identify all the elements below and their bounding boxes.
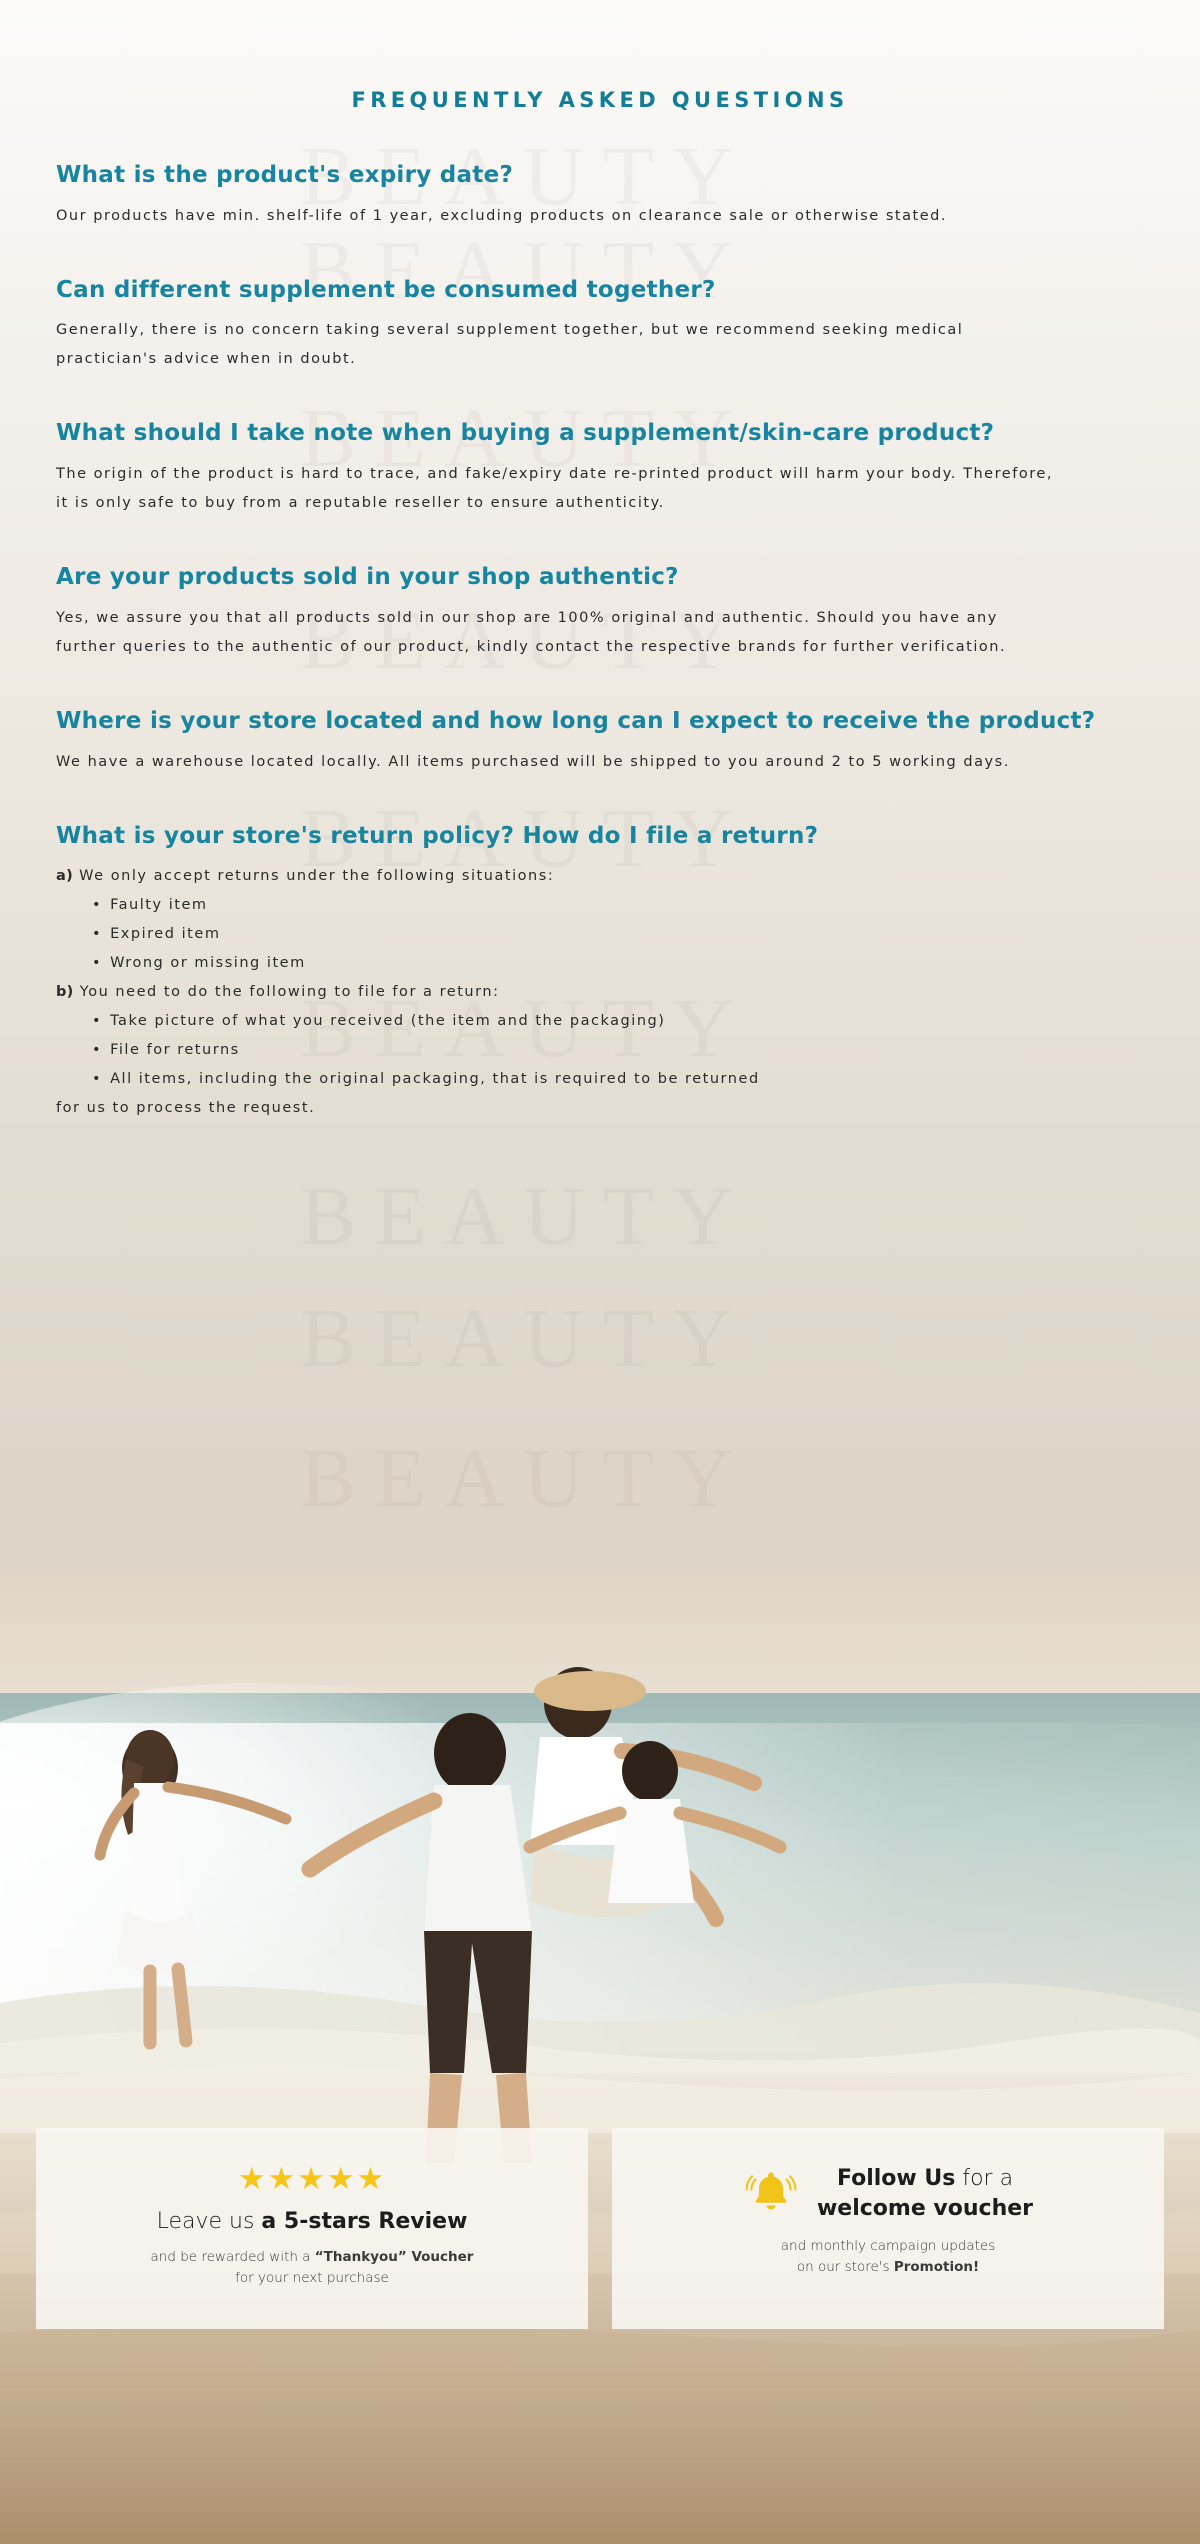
returns-list-a: •Faulty item •Expired item •Wrong or mis… [56, 891, 1144, 978]
faq-question: Are your products sold in your shop auth… [56, 562, 1144, 594]
list-item-label: File for returns [110, 1042, 240, 1058]
follow-heading-bold2: welcome voucher [817, 2196, 1033, 2221]
faq-question: What should I take note when buying a su… [56, 418, 1144, 450]
review-sub-line2: for your next purchase [235, 2270, 389, 2286]
follow-heading-bold1: Follow Us [837, 2166, 955, 2191]
follow-card-subtext: and monthly campaign updates on our stor… [636, 2236, 1140, 2278]
faq-question: Can different supplement be consumed tog… [56, 275, 1144, 307]
faq-answer: The origin of the product is hard to tra… [56, 460, 1056, 518]
faq-answer: Our products have min. shelf-life of 1 y… [56, 202, 1056, 231]
list-item-label: All items, including the original packag… [110, 1071, 760, 1087]
review-heading-bold: a 5-stars Review [261, 2209, 467, 2234]
list-item: •Expired item [92, 920, 1144, 949]
review-card-subtext: and be rewarded with a “Thankyou” Vouche… [60, 2247, 564, 2289]
follow-sub-line2-plain: on our store's [797, 2259, 894, 2275]
follow-heading-plain: for a [955, 2166, 1013, 2191]
returns-line-b: b) You need to do the following to file … [56, 978, 1056, 1007]
beach-family-photo [0, 1573, 1200, 2544]
bullet-icon: • [92, 1042, 102, 1058]
follow-sub-line1: and monthly campaign updates [781, 2238, 996, 2254]
faq-item: What is the product's expiry date? Our p… [56, 160, 1144, 231]
bell-icon [743, 2164, 799, 2224]
faq-answer: We have a warehouse located locally. All… [56, 748, 1056, 777]
list-item: •All items, including the original packa… [92, 1065, 1144, 1094]
faq-question: Where is your store located and how long… [56, 706, 1144, 738]
list-item: •File for returns [92, 1036, 1144, 1065]
returns-line-a-text: We only accept returns under the followi… [79, 868, 554, 884]
background-watermark: BEAUTY [300, 1168, 752, 1265]
list-item-label: Faulty item [110, 897, 208, 913]
list-marker-b: b) [56, 984, 74, 1000]
review-sub-plain: and be rewarded with a [151, 2249, 315, 2265]
faq-landing-page: BEAUTY BEAUTY BEAUTY BEAUTY BEAUTY BEAUT… [0, 0, 1200, 2544]
faq-item: What should I take note when buying a su… [56, 418, 1144, 518]
list-item: •Wrong or missing item [92, 949, 1144, 978]
returns-line-a: a) We only accept returns under the foll… [56, 862, 1056, 891]
faq-item: Where is your store located and how long… [56, 706, 1144, 777]
returns-line-b-text: You need to do the following to file for… [80, 984, 500, 1000]
bullet-icon: • [92, 926, 102, 942]
follow-heading-text: Follow Us for a welcome voucher [817, 2164, 1033, 2223]
returns-list-b: •Take picture of what you received (the … [56, 1007, 1144, 1094]
list-item-label: Wrong or missing item [110, 955, 306, 971]
review-sub-bold: “Thankyou” Voucher [315, 2249, 474, 2265]
follow-card[interactable]: Follow Us for a welcome voucher and mont… [612, 2128, 1164, 2329]
follow-sub-line2-bold: Promotion! [894, 2259, 979, 2275]
list-marker-a: a) [56, 868, 73, 884]
faq-item-returns: What is your store's return policy? How … [56, 821, 1144, 1124]
follow-card-heading: Follow Us for a welcome voucher [636, 2164, 1140, 2224]
bullet-icon: • [92, 1013, 102, 1029]
faq-question: What is the product's expiry date? [56, 160, 1144, 192]
background-watermark: BEAUTY [300, 1290, 752, 1387]
page-title: FREQUENTLY ASKED QUESTIONS [56, 0, 1144, 112]
faq-item: Can different supplement be consumed tog… [56, 275, 1144, 375]
review-card-heading: Leave us a 5-stars Review [60, 2207, 564, 2237]
faq-item: Are your products sold in your shop auth… [56, 562, 1144, 662]
returns-closing: for us to process the request. [56, 1094, 1056, 1123]
faq-answer: Yes, we assure you that all products sol… [56, 604, 1056, 662]
list-item-label: Take picture of what you received (the i… [110, 1013, 665, 1029]
bullet-icon: • [92, 897, 102, 913]
review-heading-plain: Leave us [157, 2209, 262, 2234]
bullet-icon: • [92, 1071, 102, 1087]
faq-answer: Generally, there is no concern taking se… [56, 316, 1056, 374]
list-item: •Take picture of what you received (the … [92, 1007, 1144, 1036]
review-card[interactable]: ★★★★★ Leave us a 5-stars Review and be r… [36, 2128, 588, 2329]
list-item: •Faulty item [92, 891, 1144, 920]
promo-cards: ★★★★★ Leave us a 5-stars Review and be r… [0, 2128, 1200, 2329]
list-item-label: Expired item [110, 926, 220, 942]
faq-section: BEAUTY BEAUTY BEAUTY BEAUTY BEAUTY BEAUT… [0, 0, 1200, 1573]
star-rating-icon: ★★★★★ [60, 2164, 564, 2195]
faq-question: What is your store's return policy? How … [56, 821, 1144, 853]
background-watermark: BEAUTY [300, 1430, 752, 1527]
bullet-icon: • [92, 955, 102, 971]
